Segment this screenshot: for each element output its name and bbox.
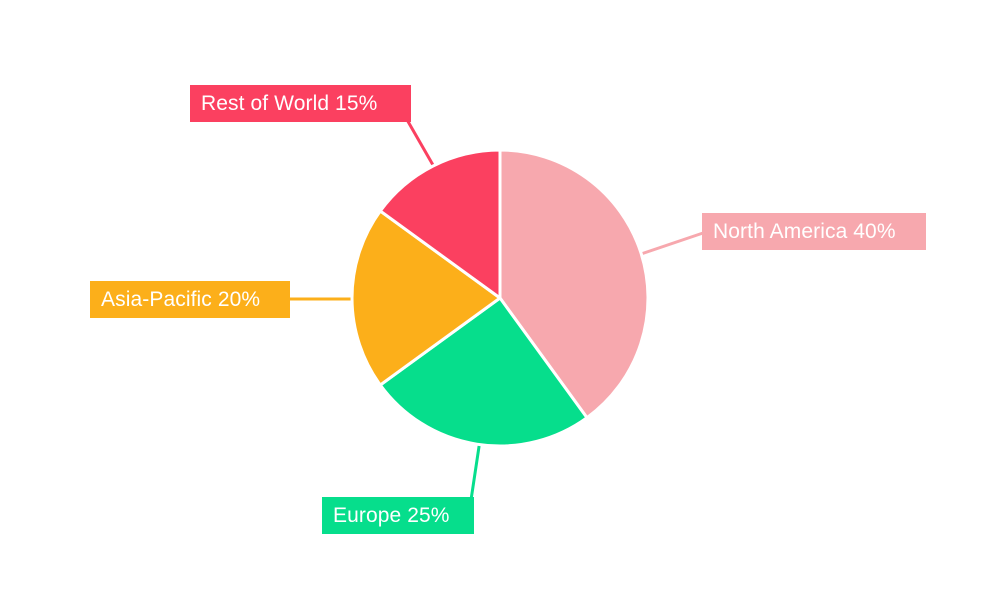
pie-label-rest-of-world[interactable]: Rest of World 15% (190, 85, 411, 122)
pie-slices-group (352, 150, 648, 446)
pie-label-rest-of-world-text: Rest of World 15% (201, 93, 377, 114)
leader-line-north-america (638, 232, 706, 255)
leader-line-europe (471, 440, 480, 500)
pie-label-europe-text: Europe 25% (333, 505, 450, 526)
pie-chart-figure: North America 40% Europe 25% Asia-Pacifi… (0, 0, 1000, 600)
pie-label-asia-pacific-text: Asia-Pacific 20% (101, 289, 260, 310)
pie-label-north-america[interactable]: North America 40% (702, 213, 926, 250)
leader-line-rest-of-world (406, 118, 437, 172)
pie-label-north-america-text: North America 40% (713, 221, 896, 242)
pie-label-europe[interactable]: Europe 25% (322, 497, 474, 534)
pie-label-asia-pacific[interactable]: Asia-Pacific 20% (90, 281, 290, 318)
